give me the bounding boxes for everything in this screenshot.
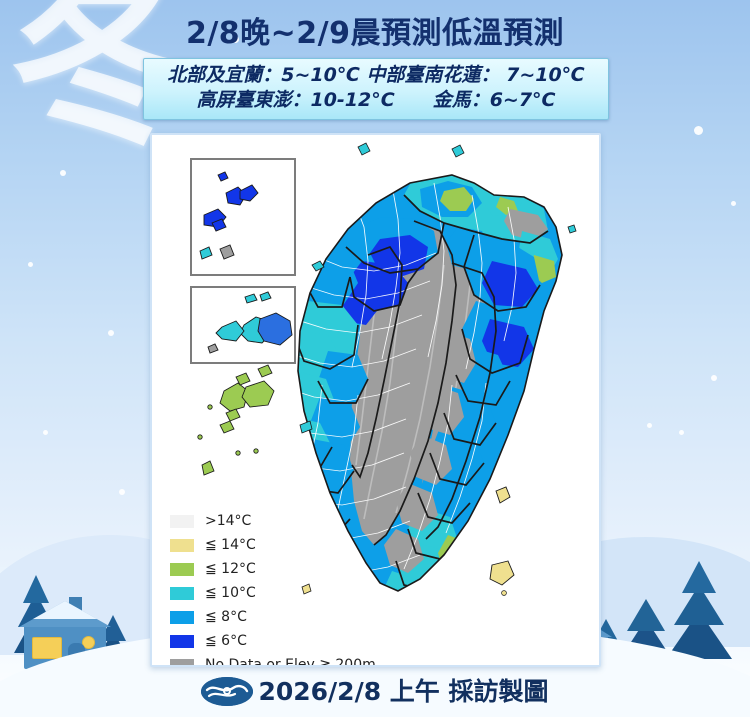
legend-item: No Data or Elev ≧ 200m	[170, 653, 376, 667]
legend-label: ≦ 8°C	[205, 609, 247, 625]
penghu-islands	[198, 365, 274, 475]
forecast-line-2: 高屏臺東澎：10-12°C 金馬：6~7°C	[144, 88, 608, 113]
legend-label: ≦ 12°C	[205, 561, 256, 577]
matsu-inset	[191, 159, 295, 275]
legend-item: >14°C	[170, 509, 376, 533]
legend-swatch	[170, 587, 194, 600]
lanyu-island	[490, 561, 514, 585]
legend-label: ≦ 6°C	[205, 633, 247, 649]
legend-item: ≦ 8°C	[170, 605, 376, 629]
legend-item: ≦ 10°C	[170, 581, 376, 605]
legend-item: ≦ 6°C	[170, 629, 376, 653]
temperature-legend: >14°C ≦ 14°C ≦ 12°C ≦ 10°C ≦ 8°C ≦ 6°C N…	[170, 509, 376, 667]
legend-item: ≦ 14°C	[170, 533, 376, 557]
kinmen-inset	[191, 287, 295, 363]
legend-item: ≦ 12°C	[170, 557, 376, 581]
weather-logo-icon	[201, 677, 253, 706]
legend-swatch	[170, 659, 194, 668]
temperature-map-panel[interactable]: >14°C ≦ 14°C ≦ 12°C ≦ 10°C ≦ 8°C ≦ 6°C N…	[150, 133, 601, 667]
legend-label: ≦ 10°C	[205, 585, 256, 601]
legend-swatch	[170, 515, 194, 528]
legend-swatch	[170, 635, 194, 648]
legend-swatch	[170, 539, 194, 552]
credit-text: 2026/2/8 上午 採訪製圖	[258, 677, 548, 706]
legend-label: No Data or Elev ≧ 200m	[205, 657, 376, 667]
green-island	[496, 487, 510, 503]
legend-label: ≦ 14°C	[205, 537, 256, 553]
legend-label: >14°C	[205, 513, 251, 529]
forecast-summary-box: 北部及宜蘭：5~10℃ 中部臺南花蓮： 7~10℃ 高屏臺東澎：10-12°C …	[143, 58, 609, 120]
legend-swatch	[170, 563, 194, 576]
credit-line: 2026/2/8 上午 採訪製圖	[0, 672, 750, 708]
legend-swatch	[170, 611, 194, 624]
forecast-line-1: 北部及宜蘭：5~10℃ 中部臺南花蓮： 7~10℃	[144, 63, 608, 88]
page-title: 2/8晚~2/9晨預測低溫預測	[0, 8, 750, 52]
